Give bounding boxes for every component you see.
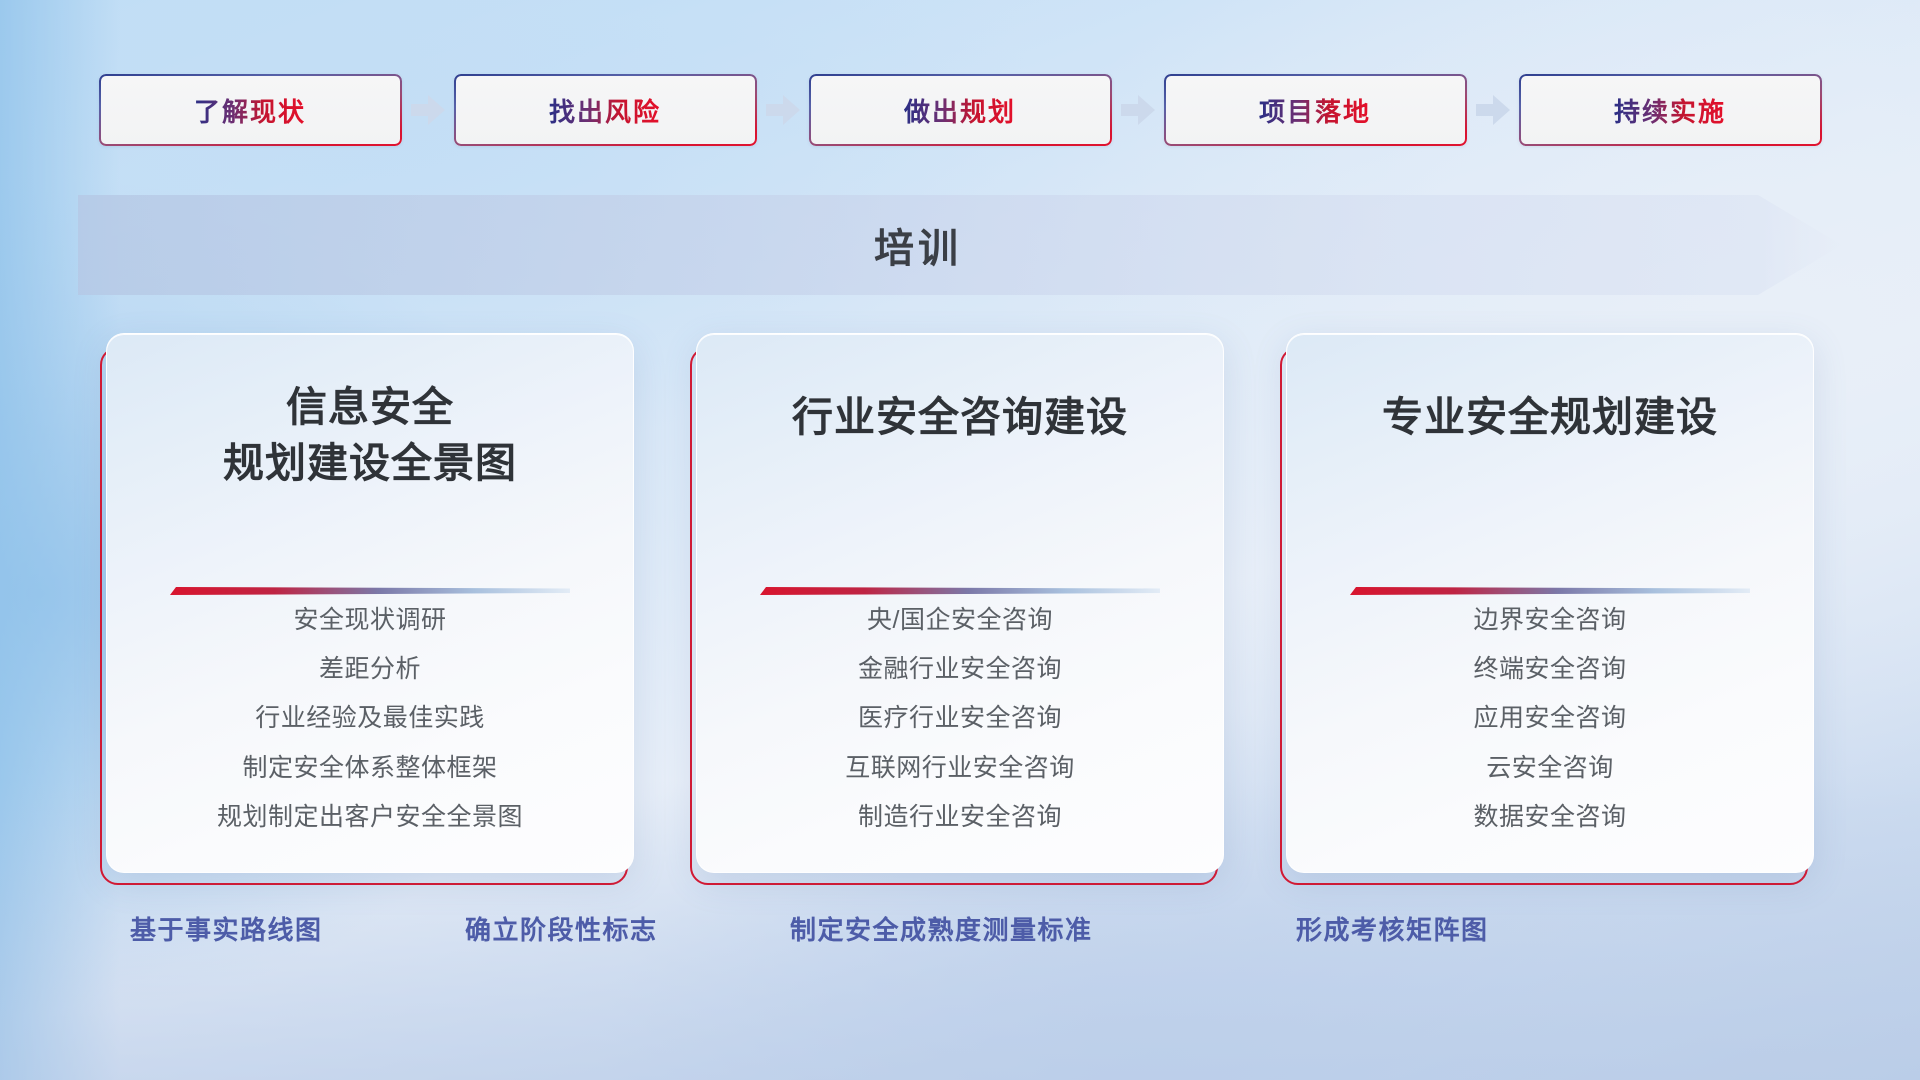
card-item-list: 央/国企安全咨询金融行业安全咨询医疗行业安全咨询互联网行业安全咨询制造行业安全咨… [697,600,1223,838]
capability-card-3[interactable]: 专业安全规划建设边界安全咨询终端安全咨询应用安全咨询云安全咨询数据安全咨询 [1286,333,1814,885]
training-band-arrow-tip [1758,181,1842,309]
card-list-item: 终端安全咨询 [1473,649,1626,690]
capability-card-row: 信息安全 规划建设全景图安全现状调研差距分析行业经验及最佳实践制定安全体系整体框… [0,333,1920,885]
step-button-1[interactable]: 了解现状 [99,74,402,146]
arrow-right-icon [1467,74,1519,146]
step-label: 持续实施 [1614,92,1726,129]
step-label: 了解现状 [194,92,306,129]
training-band-title: 培训 [78,195,1758,295]
card-list-item: 医疗行业安全咨询 [858,698,1062,739]
arrow-right-icon [1112,74,1164,146]
card-list-item: 金融行业安全咨询 [858,649,1062,690]
bottom-caption-row: 基于事实路线图确立阶段性标志制定安全成熟度测量标准形成考核矩阵图 [0,910,1920,970]
card-title: 行业安全咨询建设 [792,390,1128,446]
bottom-caption-1: 基于事实路线图 [130,910,323,947]
step-button-3[interactable]: 做出规划 [809,74,1112,146]
capability-card-2[interactable]: 行业安全咨询建设央/国企安全咨询金融行业安全咨询医疗行业安全咨询互联网行业安全咨… [696,333,1224,885]
card-list-item: 应用安全咨询 [1473,698,1626,739]
card-list-item: 央/国企安全咨询 [867,600,1053,641]
card-list-item: 规划制定出客户安全全景图 [217,797,523,838]
step-label: 项目落地 [1259,92,1371,129]
bottom-caption-3: 制定安全成熟度测量标准 [790,910,1093,947]
card-list-item: 制定安全体系整体框架 [242,748,497,789]
card-divider [1350,584,1750,600]
card-list-item: 安全现状调研 [293,600,446,641]
bottom-caption-2: 确立阶段性标志 [465,910,658,947]
card-list-item: 差距分析 [319,649,421,690]
step-button-5[interactable]: 持续实施 [1519,74,1822,146]
card-list-item: 边界安全咨询 [1473,600,1626,641]
process-step-row: 了解现状找出风险做出规划项目落地持续实施 [0,74,1920,146]
step-label: 做出规划 [904,92,1016,129]
card-item-list: 边界安全咨询终端安全咨询应用安全咨询云安全咨询数据安全咨询 [1287,600,1813,838]
card-item-list: 安全现状调研差距分析行业经验及最佳实践制定安全体系整体框架规划制定出客户安全全景… [107,600,633,838]
card-body: 信息安全 规划建设全景图安全现状调研差距分析行业经验及最佳实践制定安全体系整体框… [106,333,634,873]
arrow-right-icon [402,74,454,146]
card-list-item: 行业经验及最佳实践 [255,698,485,739]
arrow-right-icon [757,74,809,146]
card-list-item: 数据安全咨询 [1473,797,1626,838]
card-body: 专业安全规划建设边界安全咨询终端安全咨询应用安全咨询云安全咨询数据安全咨询 [1286,333,1814,873]
card-title: 信息安全 规划建设全景图 [223,380,517,492]
training-band: 培训 [78,195,1842,295]
card-list-item: 云安全咨询 [1486,748,1614,789]
step-label: 找出风险 [549,92,661,129]
card-title: 专业安全规划建设 [1382,390,1718,446]
step-button-2[interactable]: 找出风险 [454,74,757,146]
card-divider [170,584,570,600]
bottom-caption-4: 形成考核矩阵图 [1296,910,1489,947]
card-body: 行业安全咨询建设央/国企安全咨询金融行业安全咨询医疗行业安全咨询互联网行业安全咨… [696,333,1224,873]
card-list-item: 制造行业安全咨询 [858,797,1062,838]
step-button-4[interactable]: 项目落地 [1164,74,1467,146]
card-divider [760,584,1160,600]
card-list-item: 互联网行业安全咨询 [845,748,1075,789]
capability-card-1[interactable]: 信息安全 规划建设全景图安全现状调研差距分析行业经验及最佳实践制定安全体系整体框… [106,333,634,885]
